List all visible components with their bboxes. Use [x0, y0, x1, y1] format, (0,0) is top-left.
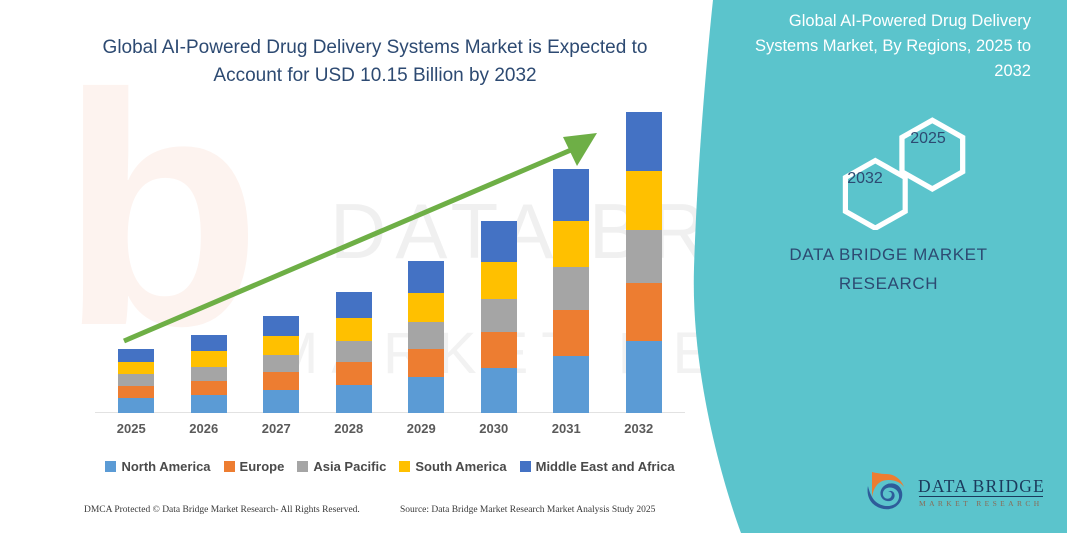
legend-swatch [224, 461, 235, 472]
chart-legend: North AmericaEuropeAsia PacificSouth Ame… [95, 455, 685, 477]
bar-2025 [118, 349, 154, 413]
bar-segment [263, 355, 299, 372]
side-panel: Global AI-Powered Drug Delivery Systems … [710, 0, 1067, 533]
bar-chart: 20252026202720282029203020312032 [0, 0, 710, 470]
bar-segment [336, 341, 372, 363]
bar-segment [553, 267, 589, 310]
legend-swatch [399, 461, 410, 472]
bar-2026 [191, 335, 227, 413]
bar-2032 [626, 112, 662, 413]
bar-segment [408, 293, 444, 322]
bar-segment [118, 362, 154, 374]
brand-logo-mark [860, 468, 916, 514]
legend-item: Middle East and Africa [520, 459, 675, 474]
bar-segment [263, 316, 299, 337]
bar-segment [481, 332, 517, 368]
legend-item: South America [399, 459, 506, 474]
x-axis-labels: 20252026202720282029203020312032 [95, 421, 685, 445]
bar-segment [553, 169, 589, 221]
bar-segment [481, 299, 517, 332]
x-label-2030: 2030 [464, 421, 524, 436]
hexagon-2025-label: 2025 [903, 130, 953, 148]
bar-2031 [553, 169, 589, 413]
hexagon-2032-label: 2032 [840, 170, 890, 188]
legend-swatch [105, 461, 116, 472]
slide-root: b DATA BRIDGE MARKET RESEARCH Global AI-… [0, 0, 1067, 533]
bar-segment [263, 390, 299, 413]
legend-label: Europe [240, 459, 285, 474]
bar-2029 [408, 261, 444, 413]
bar-segment [191, 381, 227, 395]
x-label-2031: 2031 [536, 421, 596, 436]
footer: DMCA Protected © Data Bridge Market Rese… [0, 505, 710, 529]
bar-segment [408, 261, 444, 293]
legend-item: Europe [224, 459, 285, 474]
brand-logo-rule [919, 496, 1043, 497]
bar-segment [191, 395, 227, 413]
x-label-2028: 2028 [319, 421, 379, 436]
footer-source: Source: Data Bridge Market Research Mark… [400, 505, 655, 515]
bar-segment [481, 368, 517, 413]
bar-segment [191, 351, 227, 366]
bar-segment [553, 310, 589, 355]
brand-logo: DATA BRIDGE MARKET RESEARCH [860, 468, 1050, 524]
bar-segment [263, 336, 299, 354]
x-label-2026: 2026 [174, 421, 234, 436]
bar-segment [626, 112, 662, 171]
bar-segment [481, 221, 517, 262]
legend-label: Asia Pacific [313, 459, 386, 474]
bar-segment [481, 262, 517, 299]
x-label-2025: 2025 [101, 421, 161, 436]
panel-brand-line1: DATA BRIDGE MARKET [710, 240, 1067, 269]
bar-segment [408, 377, 444, 413]
plot-area [100, 100, 680, 413]
bar-segment [626, 230, 662, 284]
bar-2030 [481, 221, 517, 413]
legend-label: Middle East and Africa [536, 459, 675, 474]
bar-segment [118, 349, 154, 362]
bar-segment [118, 398, 154, 413]
footer-copyright: DMCA Protected © Data Bridge Market Rese… [84, 505, 360, 515]
bar-segment [553, 221, 589, 267]
x-label-2032: 2032 [609, 421, 669, 436]
legend-item: North America [105, 459, 210, 474]
bar-segment [626, 341, 662, 413]
bar-segment [263, 372, 299, 390]
panel-brand: DATA BRIDGE MARKET RESEARCH [710, 240, 1067, 298]
side-panel-title: Global AI-Powered Drug Delivery Systems … [741, 9, 1031, 84]
x-label-2027: 2027 [246, 421, 306, 436]
bar-segment [408, 349, 444, 377]
bar-segment [336, 318, 372, 341]
legend-label: North America [121, 459, 210, 474]
bar-segment [336, 362, 372, 385]
legend-swatch [520, 461, 531, 472]
legend-label: South America [415, 459, 506, 474]
brand-logo-line2: MARKET RESEARCH [919, 499, 1043, 508]
bar-segment [118, 374, 154, 386]
bar-2028 [336, 292, 372, 413]
bar-segment [191, 335, 227, 351]
brand-logo-line1: DATA BRIDGE [918, 476, 1045, 497]
x-label-2029: 2029 [391, 421, 451, 436]
bar-segment [408, 322, 444, 349]
bar-segment [191, 367, 227, 381]
bar-segment [626, 283, 662, 340]
panel-brand-line2: RESEARCH [710, 269, 1067, 298]
bar-segment [553, 356, 589, 413]
hexagon-group: 2032 2025 [710, 90, 1067, 230]
legend-item: Asia Pacific [297, 459, 386, 474]
legend-swatch [297, 461, 308, 472]
bar-segment [118, 386, 154, 398]
bar-2027 [263, 316, 299, 413]
bar-segment [336, 292, 372, 318]
bar-segment [336, 385, 372, 413]
bar-segment [626, 171, 662, 229]
